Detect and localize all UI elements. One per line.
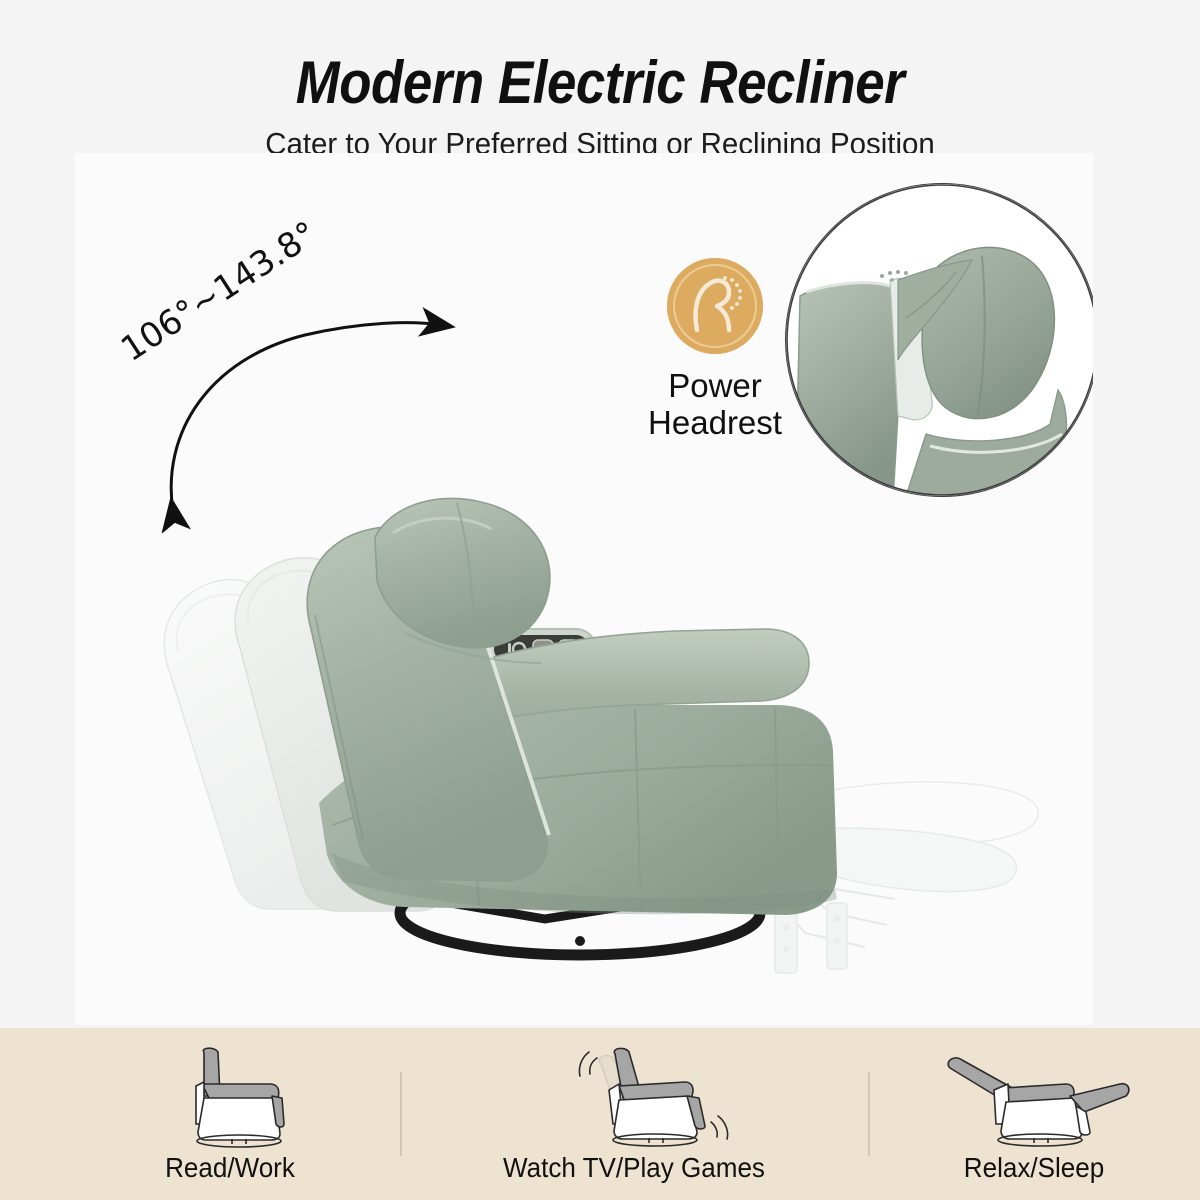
chair-full-recline-icon — [868, 1040, 1200, 1148]
power-headrest-badge: Power Headrest — [620, 258, 810, 442]
recline-angle-annotation: 106°~143.8° — [135, 273, 465, 533]
infographic-page: Modern Electric Recliner Cater to Your P… — [0, 0, 1200, 1200]
feature-read-work: Read/Work — [60, 1028, 400, 1200]
feature-relax-sleep: Relax/Sleep — [868, 1028, 1200, 1200]
feature-label-read-work: Read/Work — [72, 1152, 388, 1184]
header: Modern Electric Recliner Cater to Your P… — [0, 0, 1200, 155]
usage-modes-bar: Read/Work — [0, 1028, 1200, 1200]
badge-line-1: Power — [620, 368, 810, 405]
feature-watch-tv: Watch TV/Play Games — [400, 1028, 868, 1200]
badge-line-2: Headrest — [620, 405, 810, 442]
page-title: Modern Electric Recliner — [72, 48, 1128, 117]
headrest-closeup-inset — [785, 183, 1093, 497]
chair-upright-icon — [60, 1040, 400, 1148]
power-headrest-label: Power Headrest — [620, 368, 810, 442]
chair-partial-recline-icon — [400, 1040, 868, 1148]
power-headrest-icon — [667, 258, 763, 354]
feature-label-watch-tv: Watch TV/Play Games — [416, 1152, 851, 1184]
feature-label-relax-sleep: Relax/Sleep — [880, 1152, 1189, 1184]
product-stage: 106°~143.8° — [75, 153, 1093, 1025]
